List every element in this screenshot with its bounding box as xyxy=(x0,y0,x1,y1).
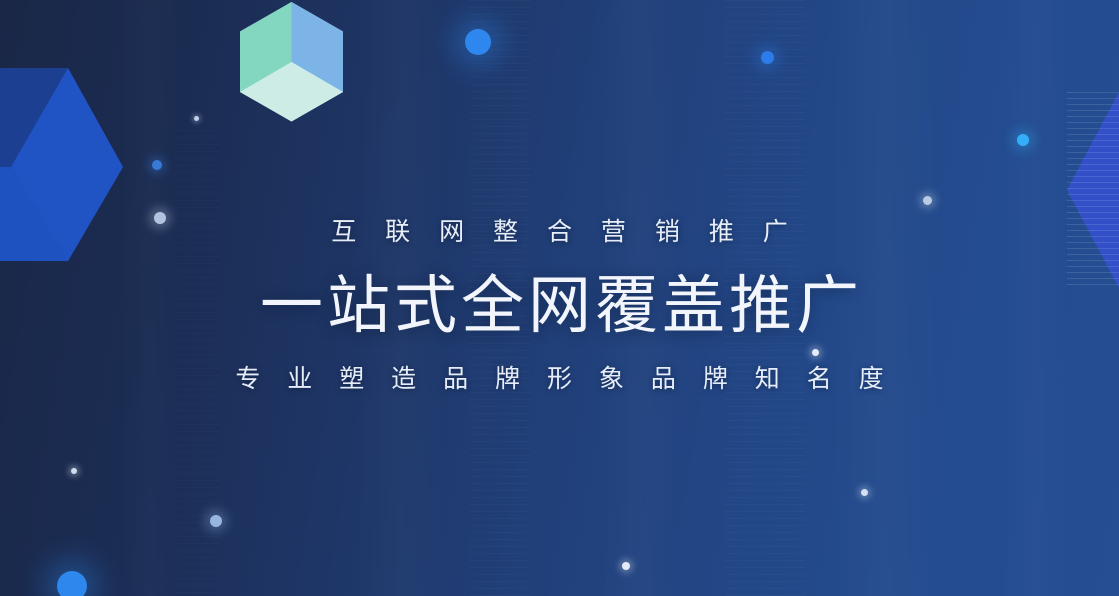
particle-orb-bottom-left xyxy=(57,571,87,596)
hero-text-block: 互 联 网 整 合 营 销 推 广 一站式全网覆盖推广 专 业 塑 造 品 牌 … xyxy=(0,214,1119,396)
particle-dot-right-mid xyxy=(1017,134,1029,146)
isometric-cube-logo-icon xyxy=(240,2,343,122)
particle-dot-lower-mid-left xyxy=(210,515,222,527)
hero-banner: 互 联 网 整 合 营 销 推 广 一站式全网覆盖推广 专 业 塑 造 品 牌 … xyxy=(0,0,1119,596)
particle-orb-top-center xyxy=(465,29,491,55)
particle-dot-lower-left-small xyxy=(71,468,77,474)
particle-dot-upper-right xyxy=(761,51,774,64)
hero-tagline: 专 业 塑 造 品 牌 形 象 品 牌 知 名 度 xyxy=(0,362,1119,396)
hero-eyebrow: 互 联 网 整 合 营 销 推 广 xyxy=(0,214,1119,250)
particle-dot-right-lower xyxy=(861,489,868,496)
particle-dot-bottom-center xyxy=(622,562,630,570)
particle-dot-upper-left-faint xyxy=(194,116,199,121)
hero-headline: 一站式全网覆盖推广 xyxy=(0,266,1119,346)
particle-dot-right-soft xyxy=(923,196,932,205)
particle-dot-left-upper xyxy=(152,160,162,170)
